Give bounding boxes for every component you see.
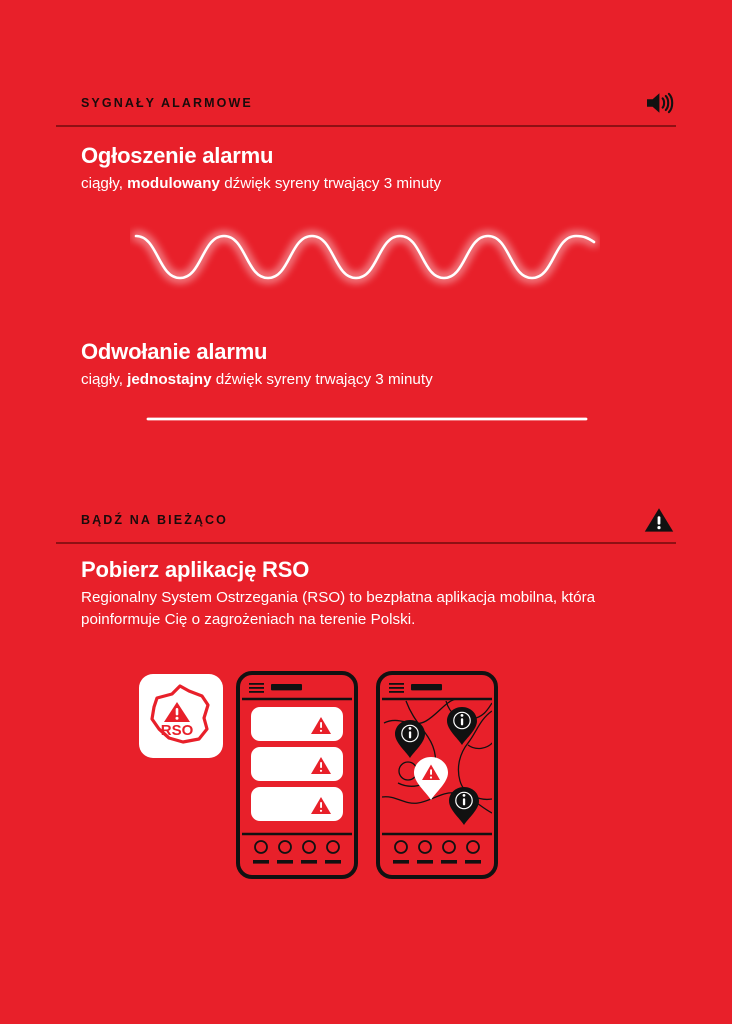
bottom-nav-1[interactable] (253, 841, 341, 864)
section-kicker-stay-updated: BĄDŹ NA BIEŻĄCO (81, 513, 228, 527)
map-pin-info[interactable] (447, 707, 477, 745)
alarm-announcement-title: Ogłoszenie alarmu (81, 144, 661, 168)
hamburger-menu-icon[interactable] (389, 683, 404, 693)
modulated-sine-wave-graphic (130, 212, 600, 302)
rso-desc-line-2: poinformuje Cię o zagrożeniach na tereni… (81, 609, 661, 631)
hamburger-menu-icon[interactable] (249, 683, 264, 693)
desc-pre-2: ciągły, (81, 371, 127, 388)
section-divider-2 (56, 542, 676, 544)
rso-map-phone[interactable] (376, 671, 498, 879)
map-pin-info[interactable] (395, 720, 425, 758)
alarm-cancellation-block: Odwołanie alarmu ciągły, jednostajny dźw… (81, 340, 661, 391)
rso-download-block: Pobierz aplikację RSO Regionalny System … (81, 558, 661, 630)
alarm-cancellation-title: Odwołanie alarmu (81, 340, 661, 364)
desc-pre-1: ciągły, (81, 175, 127, 192)
rso-desc-line-1: Regionalny System Ostrzegania (RSO) to b… (81, 587, 661, 609)
desc-post-1: dźwięk syreny trwający 3 minuty (220, 175, 441, 192)
map-pin-alert[interactable] (414, 757, 448, 800)
section-divider-1 (56, 125, 676, 127)
continuous-flat-line-graphic (130, 400, 600, 440)
warning-triangle-icon (642, 503, 676, 537)
alert-card[interactable] (251, 747, 343, 781)
alert-card[interactable] (251, 707, 343, 741)
section-kicker-alarm-signals: SYGNAŁY ALARMOWE (81, 96, 253, 110)
alarm-cancellation-description: ciągły, jednostajny dźwięk syreny trwają… (81, 369, 661, 391)
rso-alert-list-phone[interactable] (236, 671, 358, 879)
alarm-announcement-description: ciągły, modulowany dźwięk syreny trwając… (81, 173, 661, 195)
section-header-alarm-signals: SYGNAŁY ALARMOWE (56, 90, 676, 116)
infographic-page: SYGNAŁY ALARMOWE Ogłoszenie alarmu ciągł… (0, 0, 732, 1024)
bottom-nav-2[interactable] (393, 841, 481, 864)
desc-bold-2: jednostajny (127, 371, 211, 388)
rso-download-title: Pobierz aplikację RSO (81, 558, 661, 582)
rso-logo-label: RSO (161, 722, 194, 739)
title-placeholder-bar-1 (271, 684, 302, 690)
rso-download-description: Regionalny System Ostrzegania (RSO) to b… (81, 587, 661, 630)
rso-app-logo[interactable]: RSO (139, 674, 223, 758)
alarm-announcement-block: Ogłoszenie alarmu ciągły, modulowany dźw… (81, 144, 661, 195)
alert-card[interactable] (251, 787, 343, 821)
title-placeholder-bar-2 (411, 684, 442, 690)
section-header-stay-updated: BĄDŹ NA BIEŻĄCO (56, 507, 676, 533)
desc-post-2: dźwięk syreny trwający 3 minuty (212, 371, 433, 388)
speaker-volume-icon (642, 86, 676, 120)
map-pin-info[interactable] (449, 787, 479, 825)
desc-bold-1: modulowany (127, 175, 220, 192)
